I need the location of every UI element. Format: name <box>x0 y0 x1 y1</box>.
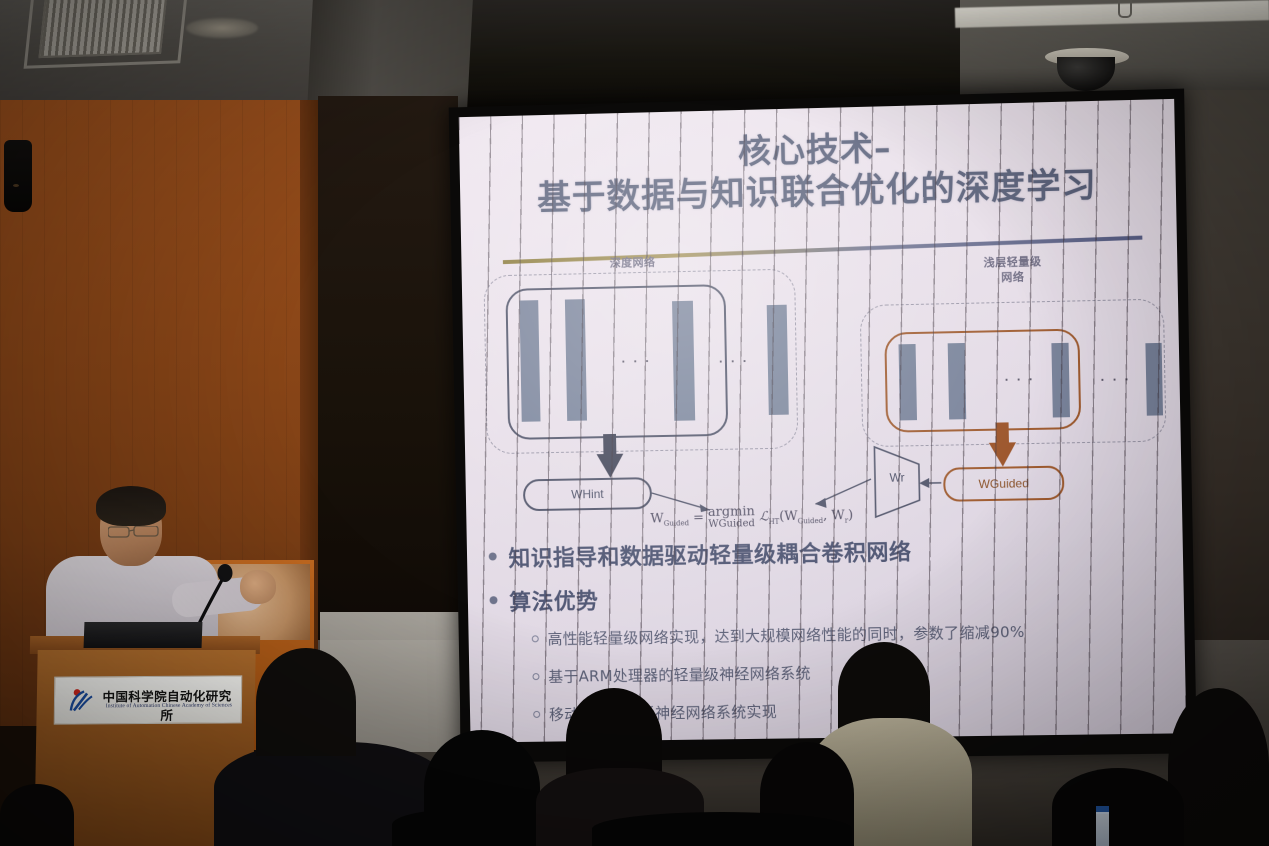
wguided-box: WGuided <box>943 466 1064 502</box>
bullet-1: 知识指导和数据驱动轻量级耦合卷积网络 <box>508 534 912 573</box>
formula-lhs: W <box>650 511 664 526</box>
whint-label: WHint <box>571 487 604 502</box>
sprinkler-icon <box>1118 0 1132 18</box>
audience-head <box>0 784 74 846</box>
architecture-diagram: 深度网络 浅层轻量级 网络 · · · · · · <box>462 250 1183 534</box>
laptop <box>84 622 203 648</box>
formula-lhs-sub: Guided <box>664 519 689 527</box>
audience-head <box>1052 768 1184 846</box>
presentation-photo: 核心技术– 基于数据与知识联合优化的深度学习 深度网络 浅层轻量级 网络 <box>0 0 1269 846</box>
air-vent-frame <box>24 0 189 69</box>
bullet-marker <box>489 552 497 560</box>
sub-bullet-2: 基于ARM处理器的轻量级神经网络系统 <box>548 662 811 687</box>
presenter-hair <box>96 486 166 526</box>
glasses-icon <box>108 526 160 538</box>
sub-bullet-1: 高性能轻量级网络实现，达到大规模网络性能的同时，参数了缩减90% <box>547 621 1024 649</box>
formula-eq: = <box>693 511 704 526</box>
formula-args-sub: Guided <box>798 517 824 525</box>
slide-title: 核心技术– 基于数据与知识联合优化的深度学习 <box>459 121 1176 222</box>
sub-bullet-marker <box>532 635 539 642</box>
institute-logo-icon <box>67 687 95 713</box>
projection-screen: 核心技术– 基于数据与知识联合优化的深度学习 深度网络 浅层轻量级 网络 <box>459 99 1187 743</box>
dark-wall-section <box>318 96 458 656</box>
audience-body <box>592 812 852 846</box>
formula-args-end: ) <box>848 508 853 523</box>
institute-sign-en: Institute of Automation Chinese Academy … <box>99 702 239 709</box>
wguided-label: WGuided <box>978 476 1029 491</box>
formula-argmin-sub: WGuided <box>708 519 755 530</box>
formula-args: (W <box>779 509 798 524</box>
whint-box: WHint <box>523 477 652 511</box>
institute-sign: 中国科学院自动化研究所 Institute of Automation Chin… <box>54 675 243 724</box>
ceiling-beam <box>307 0 473 108</box>
formula-loss-sub: HT <box>768 518 779 526</box>
sub-bullet-marker <box>532 673 539 680</box>
formula-args-mid: , W <box>823 508 845 523</box>
bullet-2: 算法优势 <box>509 584 599 617</box>
formula-argmin-block: argmin WGuided <box>708 505 755 530</box>
slide-content: 核心技术– 基于数据与知识联合优化的深度学习 深度网络 浅层轻量级 网络 <box>459 99 1187 743</box>
bullet-marker <box>490 596 498 604</box>
projection-screen-frame: 核心技术– 基于数据与知识联合优化的深度学习 深度网络 浅层轻量级 网络 <box>449 89 1197 763</box>
ceiling-downlight-icon <box>186 18 258 38</box>
water-bottle-icon <box>1096 812 1109 846</box>
wr-label: Wr <box>877 470 917 485</box>
formula-loss: ℒ <box>759 510 769 525</box>
wall-speaker-icon <box>4 140 32 212</box>
optimization-formula: WGuided = argmin WGuided ℒHT(WGuided, Wr… <box>650 502 930 531</box>
sub-bullet-marker <box>533 711 540 718</box>
audience-head <box>256 648 356 756</box>
dome-camera-icon <box>1045 48 1129 92</box>
presenter-hand <box>240 570 276 604</box>
